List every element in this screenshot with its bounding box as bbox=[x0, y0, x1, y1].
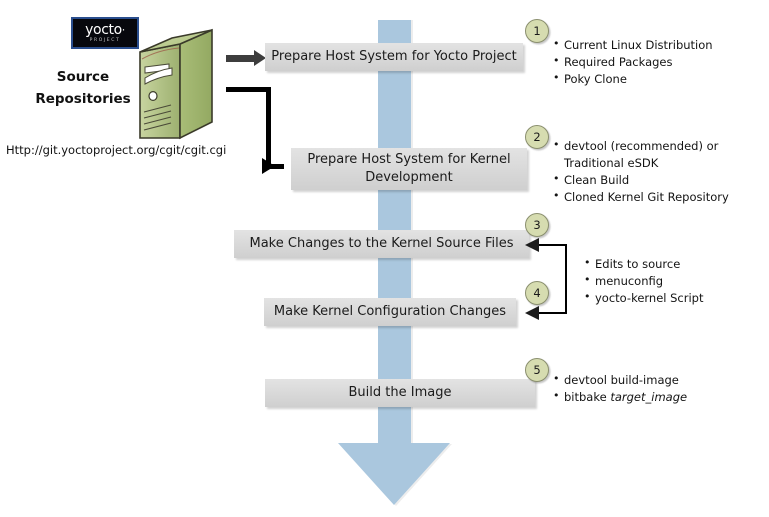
connector-arrow-to-step2-segment-1 bbox=[226, 87, 271, 92]
step-badge-4: 4 bbox=[525, 281, 549, 305]
list-item: Poky Clone bbox=[552, 71, 762, 88]
bullet-list-steps3-4: Edits to source menuconfig yocto-kernel … bbox=[583, 256, 763, 307]
step-badge-1: 1 bbox=[525, 19, 549, 43]
list-item-emphasis: target_image bbox=[610, 390, 687, 404]
list-item: Required Packages bbox=[552, 54, 762, 71]
feedback-arrowhead-step4 bbox=[525, 306, 539, 320]
list-item: devtool (recommended) or Traditional eSD… bbox=[552, 138, 762, 172]
source-repositories-url: Http://git.yoctoproject.org/cgit/cgit.cg… bbox=[6, 143, 226, 157]
bullet-list-step5: devtool build-image bitbake target_image bbox=[552, 372, 762, 406]
list-item: menuconfig bbox=[583, 273, 763, 290]
server-icon bbox=[136, 26, 226, 142]
feedback-bracket-top-segment bbox=[537, 244, 567, 246]
yocto-logo-wordmark: yocto· bbox=[85, 23, 125, 37]
source-repositories-label: Source Repositories bbox=[32, 66, 134, 111]
process-box-step3[interactable]: Make Changes to the Kernel Source Files bbox=[234, 230, 529, 258]
list-item-text: devtool build-image bbox=[564, 373, 679, 387]
step-badge-2: 2 bbox=[525, 125, 549, 149]
yocto-project-logo: yocto· PROJECT bbox=[71, 17, 139, 49]
connector-arrowhead-to-step2 bbox=[262, 158, 275, 174]
workflow-arrow-head bbox=[338, 443, 450, 505]
feedback-bracket-vertical bbox=[565, 244, 567, 314]
list-item: devtool build-image bbox=[552, 372, 762, 389]
feedback-bracket-bottom-segment bbox=[537, 312, 567, 314]
process-box-step1[interactable]: Prepare Host System for Yocto Project bbox=[265, 43, 523, 71]
list-item-text: bitbake bbox=[564, 390, 610, 404]
list-item: Edits to source bbox=[583, 256, 763, 273]
list-item: yocto-kernel Script bbox=[583, 290, 763, 307]
feedback-arrowhead-step3 bbox=[525, 238, 539, 252]
process-box-step2[interactable]: Prepare Host System for Kernel Developme… bbox=[291, 148, 527, 190]
list-item: Cloned Kernel Git Repository bbox=[552, 189, 762, 206]
process-box-step4[interactable]: Make Kernel Configuration Changes bbox=[264, 298, 516, 326]
step-badge-3: 3 bbox=[525, 213, 549, 237]
connector-arrow-to-step2-segment-2 bbox=[266, 87, 271, 169]
list-item: Clean Build bbox=[552, 172, 762, 189]
yocto-logo-subtext: PROJECT bbox=[90, 39, 121, 44]
process-box-step5[interactable]: Build the Image bbox=[265, 379, 535, 407]
list-item: Current Linux Distribution bbox=[552, 37, 762, 54]
bullet-list-step1: Current Linux Distribution Required Pack… bbox=[552, 37, 762, 88]
bullet-list-step2: devtool (recommended) or Traditional eSD… bbox=[552, 138, 762, 206]
connector-arrow-to-step1 bbox=[226, 55, 256, 62]
yocto-logo-dot: · bbox=[122, 23, 125, 36]
list-item: bitbake target_image bbox=[552, 389, 762, 406]
diagram-canvas: yocto· PROJECT bbox=[0, 0, 769, 517]
yocto-logo-text: yocto bbox=[85, 22, 122, 38]
step-badge-5: 5 bbox=[525, 358, 549, 382]
